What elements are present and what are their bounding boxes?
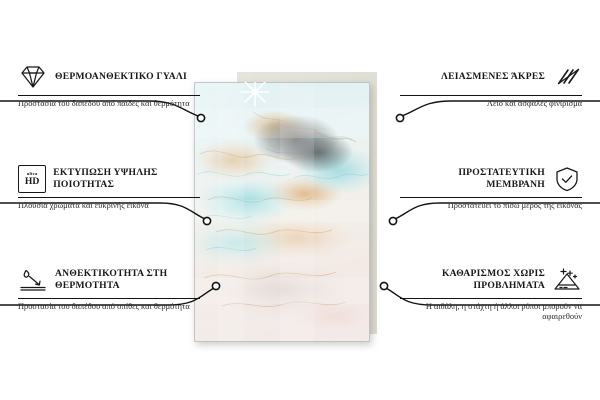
feature-protective-film: ΠΡΟΣΤΑΤΕΥΤΙΚΗ ΜΕΜΒΡΑΝΗ Προστατεύει το πί… (400, 165, 582, 211)
infographic-canvas: ΘΕΡΜΟΑΝΘΕΚΤΙΚΟ ΓΥΑΛΙ Προστασία του δαπέδ… (0, 0, 600, 400)
feature-heat-resistance: ΑΝΘΕΚΤΙΚΟΤΗΤΑ ΣΤΗ ΘΕΡΜΟΤΗΤΑ Προστασία το… (18, 266, 200, 312)
polished-edges-icon (552, 63, 582, 91)
divider (18, 197, 200, 198)
divider (18, 95, 200, 96)
diamond-icon (18, 63, 48, 91)
heat-resistance-icon (18, 266, 48, 294)
divider (400, 95, 582, 96)
feature-header: ΚΑΘΑΡΙΣΜΟΣ ΧΩΡΙΣ ΠΡΟΒΛΗΜΑΤΑ (400, 266, 582, 294)
ultra-hd-icon-bottom-label: HD (25, 177, 40, 187)
feature-easy-cleaning: ΚΑΘΑΡΙΣΜΟΣ ΧΩΡΙΣ ΠΡΟΒΛΗΜΑΤΑ (400, 266, 582, 323)
feature-title: ΛΕΙΑΣΜΕΝΕΣ ΆΚΡΕΣ (441, 71, 545, 83)
shield-check-icon (552, 165, 582, 193)
feature-header: ΘΕΡΜΟΑΝΘΕΚΤΙΚΟ ΓΥΑΛΙ (18, 63, 200, 91)
feature-header: ΛΕΙΑΣΜΕΝΕΣ ΆΚΡΕΣ (400, 63, 582, 91)
feature-subtitle: Προστασία του δαπέδου από παιδές και θερ… (18, 99, 200, 109)
feature-header: ΑΝΘΕΚΤΙΚΟΤΗΤΑ ΣΤΗ ΘΕΡΜΟΤΗΤΑ (18, 266, 200, 294)
feature-heat-resistant-glass: ΘΕΡΜΟΑΝΘΕΚΤΙΚΟ ΓΥΑΛΙ Προστασία του δαπέδ… (18, 63, 200, 109)
feature-title: ΕΚΤΥΠΩΣΗ ΥΨΗΛΗΣ ΠΟΙΟΤΗΤΑΣ (53, 167, 200, 190)
divider (18, 298, 200, 299)
product-glass-panel (194, 82, 370, 342)
divider (400, 197, 582, 198)
feature-header: ultra HD ΕΚΤΥΠΩΣΗ ΥΨΗΛΗΣ ΠΟΙΟΤΗΤΑΣ (18, 165, 200, 193)
easy-clean-icon (552, 266, 582, 294)
feature-subtitle: Πλούσια χρώματα και ευκρινής εικόνα (18, 201, 200, 211)
feature-title: ΚΑΘΑΡΙΣΜΟΣ ΧΩΡΙΣ ΠΡΟΒΛΗΜΑΤΑ (400, 268, 545, 291)
feature-high-quality-print: ultra HD ΕΚΤΥΠΩΣΗ ΥΨΗΛΗΣ ΠΟΙΟΤΗΤΑΣ Πλούσ… (18, 165, 200, 211)
feature-title: ΠΡΟΣΤΑΤΕΥΤΙΚΗ ΜΕΜΒΡΑΝΗ (400, 167, 545, 190)
divider (400, 298, 582, 299)
feature-polished-edges: ΛΕΙΑΣΜΕΝΕΣ ΆΚΡΕΣ Λείο και ασφαλές φινίρι… (400, 63, 582, 109)
feature-header: ΠΡΟΣΤΑΤΕΥΤΙΚΗ ΜΕΜΒΡΑΝΗ (400, 165, 582, 193)
feature-subtitle: Προστασία του δαπέδου από σπίθες και θερ… (18, 302, 200, 312)
feature-title: ΘΕΡΜΟΑΝΘΕΚΤΙΚΟ ΓΥΑΛΙ (55, 71, 187, 83)
feature-subtitle: Η αιθάλη, η στάχτη ή άλλοι ρύποι μπορούν… (400, 302, 582, 323)
feature-title: ΑΝΘΕΚΤΙΚΟΤΗΤΑ ΣΤΗ ΘΕΡΜΟΤΗΤΑ (55, 268, 200, 291)
feature-subtitle: Προστατεύει το πίσω μέρος της εικόνας (400, 201, 582, 211)
feature-subtitle: Λείο και ασφαλές φινίρισμα (400, 99, 582, 109)
artwork-veins (194, 82, 370, 342)
ultra-hd-icon: ultra HD (18, 165, 46, 193)
